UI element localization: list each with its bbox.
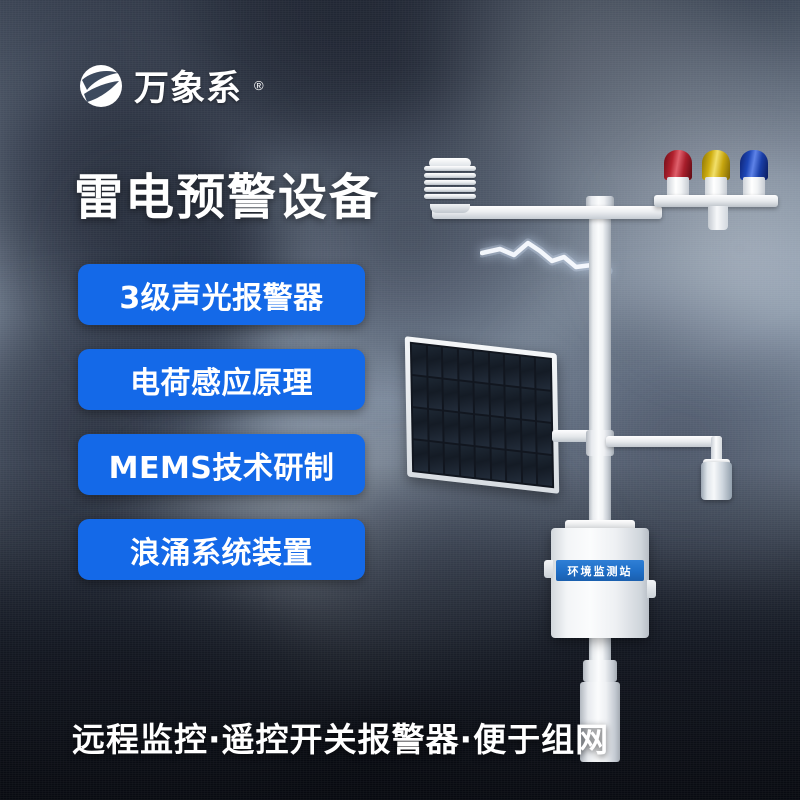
feature-badge: 3级声光报警器 <box>78 264 365 325</box>
poster-root: 环境监测站 万象系 ® 雷电预警设备 3级声光报警器 电荷感应原理 MEMS技术… <box>0 0 800 800</box>
feature-badge-label: 3级声光报警器 <box>119 273 323 317</box>
swoosh-sphere-icon <box>78 63 124 109</box>
lightning-bolt-icon <box>480 225 620 305</box>
page-title: 雷电预警设备 <box>74 158 380 229</box>
feature-badge-label: MEMS技术研制 <box>109 443 335 487</box>
brand-logo: 万象系 ® <box>78 60 264 111</box>
feature-badge-label: 电荷感应原理 <box>130 358 313 402</box>
feature-badge: 电荷感应原理 <box>78 349 365 410</box>
feature-badge: 浪涌系统装置 <box>78 519 365 580</box>
feature-badge-label: 浪涌系统装置 <box>130 528 313 572</box>
feature-badge-list: 3级声光报警器 电荷感应原理 MEMS技术研制 浪涌系统装置 <box>78 264 365 580</box>
brand-name: 万象系 <box>134 60 242 111</box>
feature-badge: MEMS技术研制 <box>78 434 365 495</box>
registered-mark: ® <box>254 78 264 93</box>
bottom-tagline: 远程监控·遥控开关报警器·便于组网 <box>72 713 609 761</box>
